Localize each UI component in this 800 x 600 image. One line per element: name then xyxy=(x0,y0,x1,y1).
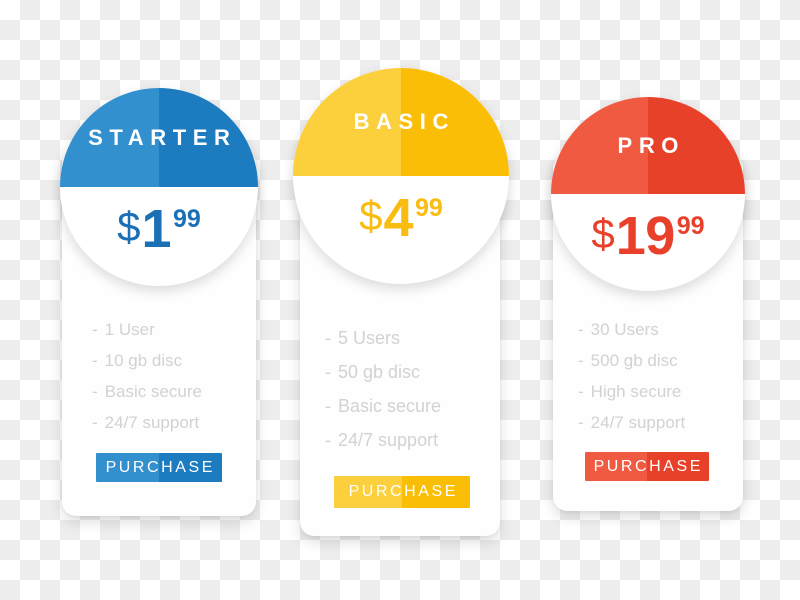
purchase-button-basic[interactable]: PURCHASE xyxy=(334,476,470,508)
price-cents-starter: 99 xyxy=(173,207,201,232)
bullet-dash: - xyxy=(578,351,584,370)
currency-symbol-pro: $ xyxy=(591,214,614,254)
price-cents-pro: 99 xyxy=(677,214,705,239)
feature-label: High secure xyxy=(591,382,682,401)
price-amount-basic: 4 xyxy=(384,194,414,244)
disc-top-half-starter: STARTER xyxy=(60,88,258,187)
price-amount-starter: 1 xyxy=(142,205,172,255)
plan-header-disc-starter: STARTER $ 1 99 xyxy=(60,88,258,286)
bullet-dash: - xyxy=(578,320,584,339)
feature-item: -High secure xyxy=(578,382,800,402)
feature-label: 24/7 support xyxy=(591,413,686,432)
price-starter: $ 1 99 xyxy=(117,205,201,255)
currency-symbol-basic: $ xyxy=(359,196,382,236)
purchase-button-label: PURCHASE xyxy=(103,459,215,477)
feature-list-pro: -30 Users -500 gb disc -High secure -24/… xyxy=(0,320,800,444)
plan-header-disc-basic: BASIC $ 4 99 xyxy=(293,68,509,284)
price-area-starter: $ 1 99 xyxy=(60,187,258,286)
plan-name-pro: PRO xyxy=(611,135,685,157)
plan-name-starter: STARTER xyxy=(81,127,236,149)
feature-label: 30 Users xyxy=(591,320,659,339)
feature-label: 500 gb disc xyxy=(591,351,678,370)
feature-item: -500 gb disc xyxy=(578,351,800,371)
price-area-basic: $ 4 99 xyxy=(293,176,509,284)
purchase-button-label: PURCHASE xyxy=(591,458,703,476)
price-cents-basic: 99 xyxy=(415,196,443,221)
pricing-table: STARTER $ 1 99 -1 User -10 gb disc -Basi… xyxy=(0,0,800,600)
price-pro: $ 19 99 xyxy=(591,212,704,262)
purchase-button-label: PURCHASE xyxy=(346,483,458,501)
disc-top-half-basic: BASIC xyxy=(293,68,509,176)
currency-symbol-starter: $ xyxy=(117,207,140,247)
price-basic: $ 4 99 xyxy=(359,194,443,244)
price-area-pro: $ 19 99 xyxy=(551,194,745,291)
purchase-button-pro[interactable]: PURCHASE xyxy=(585,452,709,481)
plan-header-disc-pro: PRO $ 19 99 xyxy=(551,97,745,291)
plan-name-basic: BASIC xyxy=(347,111,455,133)
feature-item: -30 Users xyxy=(578,320,800,340)
bullet-dash: - xyxy=(578,382,584,401)
feature-item: -24/7 support xyxy=(578,413,800,433)
bullet-dash: - xyxy=(578,413,584,432)
price-amount-pro: 19 xyxy=(616,212,675,262)
disc-top-half-pro: PRO xyxy=(551,97,745,194)
